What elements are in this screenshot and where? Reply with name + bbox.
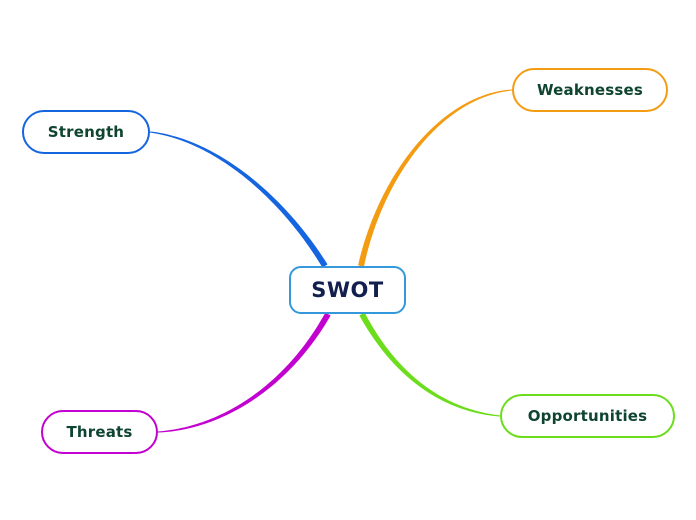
mind-map-canvas: SWOT Strength Weaknesses Opportunities T… <box>0 0 696 520</box>
central-node-label: SWOT <box>311 278 383 302</box>
branch-node-strength[interactable]: Strength <box>22 110 150 154</box>
branch-node-label: Strength <box>48 123 124 141</box>
edge-weaknesses <box>358 89 512 266</box>
edge-strength <box>150 131 328 267</box>
branch-node-weaknesses[interactable]: Weaknesses <box>512 68 668 112</box>
branch-node-opportunities[interactable]: Opportunities <box>500 394 675 438</box>
central-node-swot[interactable]: SWOT <box>289 266 406 314</box>
edge-threats <box>158 313 331 433</box>
branch-node-label: Weaknesses <box>537 81 643 99</box>
branch-node-threats[interactable]: Threats <box>41 410 158 454</box>
branch-node-label: Threats <box>66 423 132 441</box>
edge-opportunities <box>359 313 500 417</box>
branch-node-label: Opportunities <box>528 407 648 425</box>
